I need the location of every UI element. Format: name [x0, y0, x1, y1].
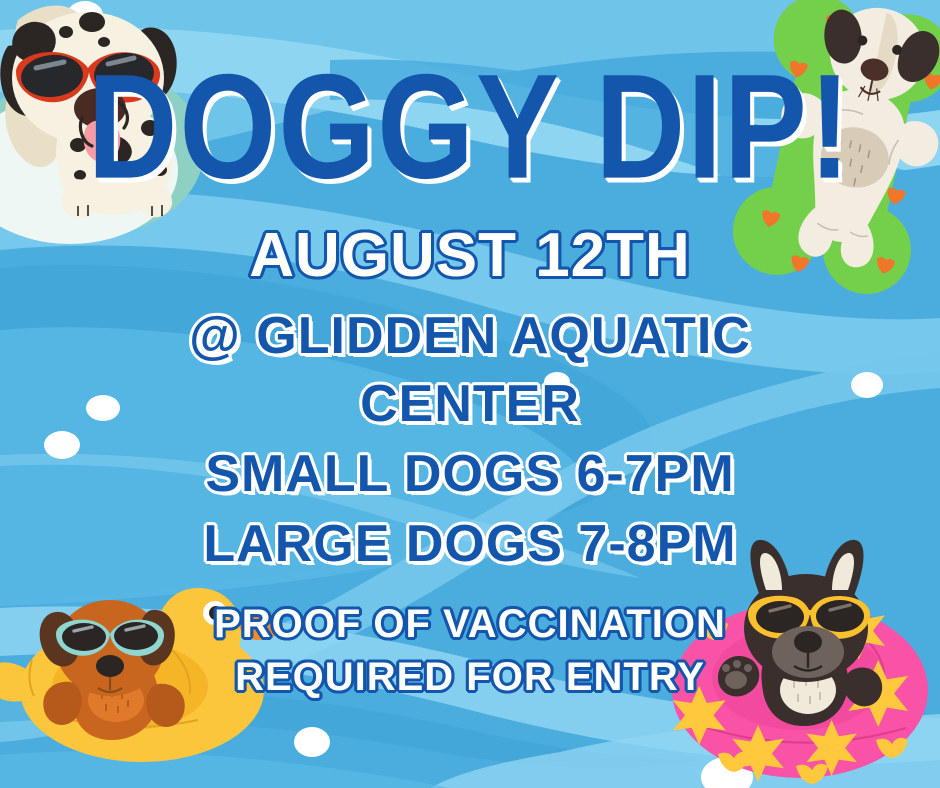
venue-line-1: @ GLIDDEN AQUATIC: [0, 310, 940, 362]
venue-line-2: CENTER: [0, 378, 940, 430]
event-date: AUGUST 12TH: [0, 225, 940, 287]
page-title: DOGGY DIP!: [0, 52, 940, 201]
large-dogs-schedule: LARGE DOGS 7-8PM: [0, 518, 940, 570]
vaccination-notice-line-1: PROOF OF VACCINATION: [0, 604, 940, 644]
poster-text: DOGGY DIP! AUGUST 12TH @ GLIDDEN AQUATIC…: [0, 0, 940, 788]
small-dogs-schedule: SMALL DOGS 6-7PM: [0, 448, 940, 500]
vaccination-notice-line-2: REQUIRED FOR ENTRY: [0, 657, 940, 697]
doggy-dip-poster: DOGGY DIP! AUGUST 12TH @ GLIDDEN AQUATIC…: [0, 0, 940, 788]
